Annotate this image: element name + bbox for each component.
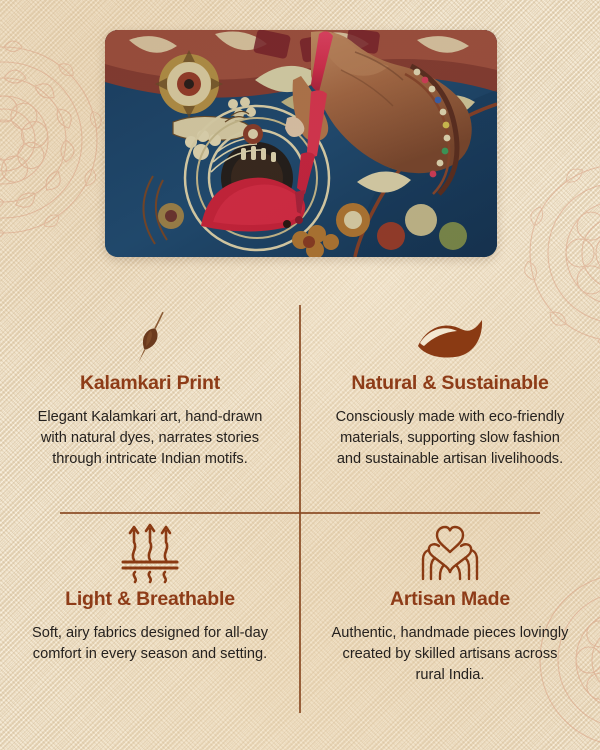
feature-title: Light & Breathable bbox=[65, 588, 235, 611]
breathable-airflow-icon bbox=[119, 520, 181, 586]
kalamkari-artisan-photo bbox=[105, 30, 497, 257]
kalam-pen-icon bbox=[121, 304, 179, 370]
feature-grid: Kalamkari Print Elegant Kalamkari art, h… bbox=[0, 296, 600, 726]
feature-description: Authentic, handmade pieces lovingly crea… bbox=[326, 623, 574, 686]
mandala-ornament-left bbox=[0, 30, 104, 250]
feature-description: Soft, airy fabrics designed for all-day … bbox=[26, 623, 274, 665]
feature-card-light-breathable: Light & Breathable Soft, airy fabrics de… bbox=[0, 512, 300, 726]
feature-description: Elegant Kalamkari art, hand-drawn with n… bbox=[26, 407, 274, 470]
feature-description: Consciously made with eco-friendly mater… bbox=[326, 407, 574, 470]
feature-title: Natural & Sustainable bbox=[351, 372, 548, 395]
leaf-icon bbox=[415, 304, 485, 370]
feature-card-artisan-made: Artisan Made Authentic, handmade pieces … bbox=[300, 512, 600, 726]
feature-card-natural-sustainable: Natural & Sustainable Consciously made w… bbox=[300, 296, 600, 512]
feature-title: Kalamkari Print bbox=[80, 372, 220, 395]
feature-card-kalamkari-print: Kalamkari Print Elegant Kalamkari art, h… bbox=[0, 296, 300, 512]
feature-title: Artisan Made bbox=[390, 588, 510, 611]
kalamkari-feature-page: Kalamkari Print Elegant Kalamkari art, h… bbox=[0, 0, 600, 750]
hands-holding-heart-icon bbox=[417, 520, 483, 586]
